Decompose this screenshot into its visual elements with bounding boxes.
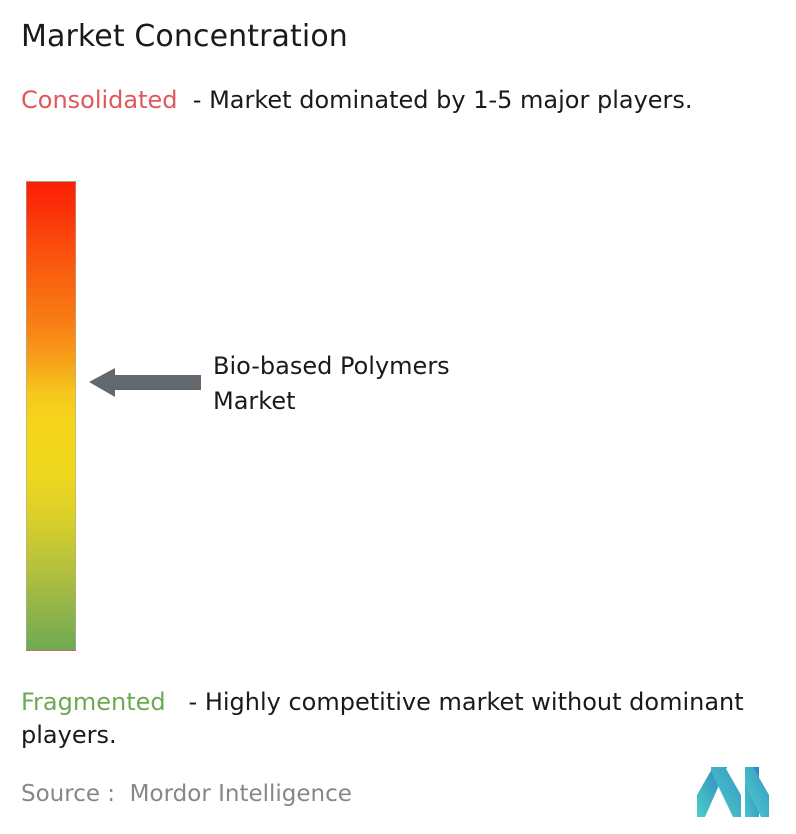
legend-keyword-consolidated: Consolidated bbox=[21, 86, 178, 114]
left-arrow-icon bbox=[89, 365, 201, 399]
definition-consolidated: Consolidated - Market dominated by 1-5 m… bbox=[21, 84, 773, 117]
definition-fragmented: Fragmented - Highly competitive market w… bbox=[21, 686, 781, 752]
callout-label-market: Bio-based Polymers Market bbox=[213, 349, 450, 419]
concentration-gradient-bar bbox=[26, 181, 76, 651]
definition-separator-bottom: - bbox=[166, 688, 205, 716]
definition-text-top: Market dominated by 1-5 major players. bbox=[209, 86, 692, 114]
page-title: Market Concentration bbox=[21, 18, 348, 56]
source-attribution: Source : Mordor Intelligence bbox=[21, 779, 352, 809]
legend-keyword-fragmented: Fragmented bbox=[21, 688, 166, 716]
mordor-intelligence-logo-icon bbox=[697, 767, 769, 817]
definition-separator-top: - bbox=[178, 86, 210, 114]
